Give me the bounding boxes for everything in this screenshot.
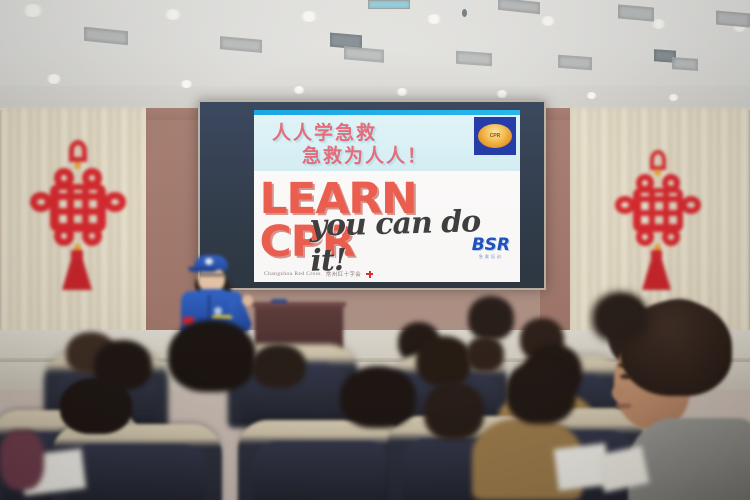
slide-footer: Changzhou Red Cross 常州红十字会 <box>264 270 373 278</box>
attendee-head <box>416 336 472 386</box>
ceiling-vent <box>220 36 262 53</box>
ceiling-light <box>668 94 679 101</box>
ceiling-light <box>496 90 508 98</box>
speaker-cap-brim <box>188 267 218 272</box>
knot-tassel <box>642 259 671 290</box>
ceiling-vent <box>716 11 750 28</box>
knot-loop <box>30 192 52 212</box>
knot-bead <box>654 169 661 176</box>
knot-tassel <box>62 260 92 290</box>
ceiling-vent <box>344 46 384 62</box>
knot-loop <box>681 196 701 214</box>
attendee-lips <box>616 404 631 408</box>
ceiling-light <box>22 4 44 17</box>
bsr-logo-text: BSR <box>472 237 510 254</box>
attendee-head <box>340 366 416 428</box>
auditorium-photo: 人人学急救 急救为人人！ CPR LEARN CPR you can do it… <box>0 0 750 500</box>
ceiling-vent <box>456 51 492 67</box>
ceiling-vent <box>558 55 592 70</box>
chinese-knot-right <box>612 150 712 290</box>
knot-loop <box>82 226 102 246</box>
slide-chinese-line-2: 急救为人人！ <box>302 141 428 168</box>
ceiling-light <box>540 16 556 26</box>
ceiling-vent <box>618 4 654 21</box>
ceiling-vent <box>498 0 540 14</box>
ceiling-light <box>300 11 318 22</box>
ceiling-light <box>426 14 442 24</box>
ceiling-vent <box>84 27 128 46</box>
ceiling-light <box>293 86 305 94</box>
attendee-grey-coat <box>628 418 750 500</box>
ceiling-light <box>164 9 182 20</box>
ceiling-light <box>396 88 408 96</box>
knot-core-outline <box>50 184 106 232</box>
attendee-head <box>424 382 484 440</box>
attendee-head <box>0 430 44 490</box>
table-top <box>252 302 346 307</box>
knot-loop <box>662 228 680 246</box>
attendee-head <box>466 336 504 372</box>
seat-cushion <box>253 441 392 500</box>
seat-cushion <box>67 444 206 500</box>
chinese-knot-left <box>24 140 134 290</box>
bsr-logo: BSR 急救培训 <box>472 237 510 260</box>
emblem-oval: CPR <box>478 124 512 148</box>
speaker-cap-logo <box>205 258 213 265</box>
attendee-head <box>168 320 256 392</box>
knot-core-outline <box>633 188 683 232</box>
knot-hanger <box>69 140 87 162</box>
projection-screen: 人人学急救 急救为人人！ CPR LEARN CPR you can do it… <box>198 100 546 290</box>
knot-loop <box>615 196 635 214</box>
red-cross-icon <box>366 271 373 278</box>
attendee-nose <box>612 386 624 400</box>
knot-loop <box>54 226 74 246</box>
ceiling-sensor <box>462 9 467 17</box>
presentation-slide: 人人学急救 急救为人人！ CPR LEARN CPR you can do it… <box>254 110 520 282</box>
knot-hanger <box>650 150 666 170</box>
attendee-head <box>252 344 306 388</box>
auditorium-seat <box>238 420 408 500</box>
ceiling-light <box>46 74 62 84</box>
attendee-head <box>60 378 132 434</box>
ceiling-vent <box>368 0 410 9</box>
speaker-glasses <box>199 274 224 279</box>
speaker-hand <box>242 295 253 306</box>
slide-footer-english: Changzhou Red Cross <box>264 271 321 277</box>
attendee-head <box>592 292 648 342</box>
attendee-head <box>506 360 576 424</box>
attendee-head <box>468 296 514 340</box>
cpr-emblem: CPR <box>474 117 516 155</box>
ceiling-light <box>586 92 597 99</box>
knot-loop <box>104 192 126 212</box>
slide-footer-chinese: 常州红十字会 <box>326 270 361 278</box>
ceiling-light <box>180 80 193 88</box>
knot-bead <box>74 162 81 169</box>
speaker-chest-emblem <box>214 307 222 315</box>
ceiling-vent <box>672 57 698 71</box>
knot-loop <box>636 228 654 246</box>
desk-object <box>271 299 287 303</box>
